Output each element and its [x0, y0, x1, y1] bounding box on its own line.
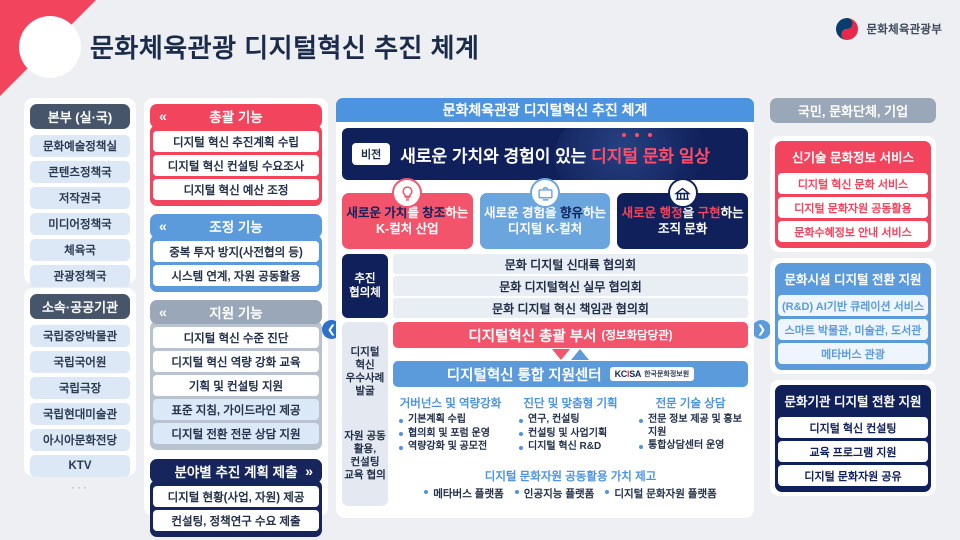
strategy-2-line2: 조직 문화	[658, 221, 707, 237]
support-card-2-item-0: 전문 정보 제공 및 홍보 지원	[639, 414, 742, 439]
support-item-4[interactable]: 디지털 전환 전문 상담 지원	[153, 423, 319, 444]
center-framework-panel: 문화체육관광 디지털혁신 추진 체계 비전 새로운 가치와 경험이 있는 디지털…	[336, 98, 754, 518]
dept-bar-sub: (정보화담당관)	[601, 327, 672, 343]
sector-plan-card: 디지털 현황(사업, 자원) 제공 컨설팅, 정책연구 수요 제출	[150, 480, 322, 537]
council-label: 추진 협의체	[342, 254, 388, 318]
slide-root: 문화체육관광 디지털혁신 추진 체계 문화체육관광부 본부 (실·국) 문화예술…	[0, 0, 960, 540]
functions-panel: « 총괄 기능 디지털 혁신 추진계획 수립 디지털 혁신 컨설팅 수요조사 디…	[144, 98, 328, 516]
support-card-2-title: 전문 기술 상담	[639, 395, 742, 411]
taegeuk-icon	[834, 16, 860, 42]
double-chevron-left-icon: «	[159, 218, 167, 234]
coordination-item-1[interactable]: 시스템 연계, 자원 공동활용	[153, 265, 319, 286]
coordination-function-header: « 조정 기능	[150, 214, 322, 238]
new-tech-service-panel: 신기술 문화정보 서비스 디지털 혁신 문화 서비스 디지털 문화자원 공동활용…	[770, 136, 936, 252]
vision-statement: 새로운 가치와 경험이 있는 디지털 문화 일상	[390, 142, 720, 167]
council-section: 추진 협의체 문화 디지털 신대륙 협의회 문화 디지털혁신 실무 협의회 문화…	[342, 254, 748, 318]
council-row-1[interactable]: 문화 디지털혁신 실무 협의회	[393, 276, 748, 296]
support-center-main: 디지털혁신 통합 지원센터	[447, 364, 602, 385]
overall-function-card: 디지털 혁신 추진계획 수립 디지털 혁신 컨설팅 수요조사 디지털 혁신 예산…	[150, 125, 322, 206]
strategy-1-line2: 디지털 K-컬처	[508, 221, 582, 237]
support-card-0-item-0: 기본계획 수립	[399, 414, 502, 427]
support-item-3[interactable]: 표준 지침, 가이드라인 제공	[153, 399, 319, 420]
double-chevron-left-icon: «	[159, 108, 167, 124]
support-function-header: « 지원 기능	[150, 300, 322, 324]
value-bar-title: 디지털 문화자원 공동활용 가치 제고	[393, 468, 748, 484]
support-card-0[interactable]: 거버넌스 및 역량강화 기본계획 수립 협의회 및 포럼 운영 역량강화 및 공…	[393, 391, 508, 460]
support-card-2[interactable]: 전문 기술 상담 전문 정보 제공 및 홍보 지원 통합상담센터 운영	[633, 391, 748, 460]
hq-item-0[interactable]: 문화예술정책실	[30, 135, 130, 157]
chevron-right-icon[interactable]: ❯	[752, 320, 771, 339]
affiliated-item-5[interactable]: KTV	[30, 455, 130, 477]
strategy-card-0[interactable]: 새로운 가치를 창조하는 K-컬처 산업	[342, 193, 473, 249]
institution-item-0[interactable]: 디지털 혁신 컨설팅	[778, 417, 928, 438]
support-card-1-item-0: 연구, 컨설팅	[519, 414, 622, 427]
headquarters-title: 본부 (실·국)	[30, 104, 130, 129]
hq-item-3[interactable]: 미디어정책국	[30, 213, 130, 235]
council-row-2[interactable]: 문화 디지털 혁신 책임관 협의회	[393, 298, 748, 318]
hq-item-4[interactable]: 체육국	[30, 239, 130, 261]
support-item-0[interactable]: 디지털 혁신 수준 진단	[153, 327, 319, 348]
affiliated-item-3[interactable]: 국립현대미술관	[30, 403, 130, 425]
council-label-line2: 협의체	[349, 287, 381, 299]
double-chevron-right-icon: »	[305, 463, 313, 479]
integrated-support-center-bar[interactable]: 디지털혁신 통합 지원센터 KCISA 한국문화정보원	[393, 361, 748, 387]
sector-plan-item-0[interactable]: 디지털 현황(사업, 자원) 제공	[153, 486, 319, 507]
coordination-function-title: 조정 기능	[209, 216, 262, 236]
coordination-function-card: 중복 투자 방지(사전협의 등) 시스템 연계, 자원 공동활용	[150, 235, 322, 292]
dept-bar-main: 디지털혁신 총괄 부서	[468, 325, 596, 346]
coordination-item-0[interactable]: 중복 투자 방지(사전협의 등)	[153, 241, 319, 262]
value-bar-item-0: 메타버스 플랫폼	[424, 486, 504, 501]
sector-plan-item-1[interactable]: 컨설팅, 정책연구 수요 제출	[153, 510, 319, 531]
new-tech-item-0[interactable]: 디지털 혁신 문화 서비스	[778, 173, 928, 194]
arrow-pair	[393, 348, 748, 361]
support-card-2-item-1: 통합상담센터 운영	[639, 440, 742, 453]
vision-banner: 비전 새로운 가치와 경험이 있는 디지털 문화 일상	[342, 128, 748, 180]
kcisa-mark: KCISA	[615, 369, 642, 379]
vision-label: 비전	[352, 143, 390, 165]
facility-card: 문화시설 디지털 전환 지원 (R&D) AI기반 큐레이션 서비스 스마트 박…	[775, 263, 931, 370]
institution-item-2[interactable]: 디지털 문화자원 공유	[778, 465, 928, 486]
facility-transition-panel: 문화시설 디지털 전환 지원 (R&D) AI기반 큐레이션 서비스 스마트 박…	[770, 258, 936, 374]
council-row-0[interactable]: 문화 디지털 신대륙 협의회	[393, 254, 748, 274]
double-chevron-left-icon: «	[159, 304, 167, 320]
center-title: 문화체육관광 디지털혁신 추진 체계	[336, 98, 754, 122]
page-title: 문화체육관광 디지털혁신 추진 체계	[90, 28, 479, 65]
support-function-card: 디지털 혁신 수준 진단 디지털 혁신 역량 강화 교육 기획 및 컨설팅 지원…	[150, 321, 322, 450]
council-label-line1: 추진	[354, 273, 375, 285]
support-card-1-item-1: 컨설팅 및 사업기획	[519, 428, 622, 441]
facility-item-1[interactable]: 스마트 박물관, 미술관, 도서관	[778, 319, 928, 340]
side-label-bottom: 자원 공동 활용, 컨설팅 교육 협의	[344, 430, 386, 482]
overall-item-2[interactable]: 디지털 혁신 예산 조정	[153, 179, 319, 200]
facility-title: 문화시설 디지털 전환 지원	[778, 266, 928, 292]
lightbulb-icon	[392, 178, 422, 208]
kcisa-logo: KCISA 한국문화정보원	[610, 367, 695, 381]
side-labels: 디지털 혁신 우수사례 발굴 자원 공동 활용, 컨설팅 교육 협의	[342, 322, 388, 506]
network-display-icon	[530, 178, 560, 208]
value-bar-item-2: 디지털 문화자원 플랫폼	[605, 486, 716, 501]
hq-item-1[interactable]: 콘텐츠정책국	[30, 161, 130, 183]
support-card-0-item-2: 역량강화 및 공모전	[399, 441, 502, 454]
support-card-1[interactable]: 진단 및 맞춤형 기획 연구, 컨설팅 컨설팅 및 사업기획 디지털 혁신 R&…	[513, 391, 628, 460]
overall-item-1[interactable]: 디지털 혁신 컨설팅 수요조사	[153, 155, 319, 176]
institution-card: 문화기관 디지털 전환 지원 디지털 혁신 컨설팅 교육 프로그램 지원 디지털…	[775, 385, 931, 492]
headquarters-panel: 본부 (실·국) 문화예술정책실 콘텐츠정책국 저작권국 미디어정책국 체육국 …	[24, 98, 136, 284]
support-center-section: 디지털 혁신 우수사례 발굴 자원 공동 활용, 컨설팅 교육 협의 디지털혁신…	[342, 322, 748, 506]
sector-plan-header: 분야별 추진 계획 제출 »	[150, 459, 322, 483]
value-enhancement-bar: 디지털 문화자원 공동활용 가치 제고 메타버스 플랫폼 인공지능 플랫폼 디지…	[393, 464, 748, 506]
strategy-0-line2: K-컬처 산업	[376, 221, 439, 237]
hq-item-2[interactable]: 저작권국	[30, 187, 130, 209]
affiliated-item-1[interactable]: 국립국어원	[30, 351, 130, 373]
public-title: 국민, 문화단체, 기업	[770, 98, 936, 123]
vision-dots-decoration	[622, 133, 652, 137]
support-function-title: 지원 기능	[209, 302, 262, 322]
support-card-1-title: 진단 및 맞춤형 기획	[519, 395, 622, 411]
side-label-top: 디지털 혁신 우수사례 발굴	[346, 346, 385, 398]
strategy-card-2[interactable]: 새로운 행정을 구현하는 조직 문화	[617, 193, 748, 249]
council-rows: 문화 디지털 신대륙 협의회 문화 디지털혁신 실무 협의회 문화 디지털 혁신…	[393, 254, 748, 318]
affiliated-item-2[interactable]: 국립극장	[30, 377, 130, 399]
affiliated-institutions-panel: 소속·공공기관 국립중앙박물관 국립국어원 국립극장 국립현대미술관 아시아문화…	[24, 288, 136, 476]
new-tech-title: 신기술 문화정보 서비스	[778, 144, 928, 170]
strategy-row: 새로운 가치를 창조하는 K-컬처 산업 새로운 경험을 향유하는 디지털 K-…	[342, 193, 748, 249]
support-card-0-item-1: 협의회 및 포럼 운영	[399, 428, 502, 441]
support-item-2[interactable]: 기획 및 컨설팅 지원	[153, 375, 319, 396]
strategy-card-1[interactable]: 새로운 경험을 향유하는 디지털 K-컬처	[480, 193, 611, 249]
support-functions-row: 거버넌스 및 역량강화 기본계획 수립 협의회 및 포럼 운영 역량강화 및 공…	[393, 391, 748, 460]
digital-innovation-dept-bar[interactable]: 디지털혁신 총괄 부서 (정보화담당관)	[393, 322, 748, 348]
arrow-up-icon	[571, 349, 589, 360]
new-tech-item-2[interactable]: 문화수혜정보 안내 서비스	[778, 221, 928, 242]
support-card-1-item-2: 디지털 혁신 R&D	[519, 441, 622, 454]
public-header-wrap: 국민, 문화단체, 기업	[770, 98, 936, 130]
vision-highlight: 디지털 문화 일상	[591, 147, 710, 166]
institution-item-1[interactable]: 교육 프로그램 지원	[778, 441, 928, 462]
overall-item-0[interactable]: 디지털 혁신 추진계획 수립	[153, 131, 319, 152]
kcisa-name: 한국문화정보원	[644, 369, 689, 379]
institution-transition-panel: 문화기관 디지털 전환 지원 디지털 혁신 컨설팅 교육 프로그램 지원 디지털…	[770, 380, 936, 496]
arrow-down-icon	[552, 349, 570, 360]
ministry-name: 문화체육관광부	[867, 21, 942, 37]
hq-item-5[interactable]: 관광정책국	[30, 265, 130, 287]
affiliated-item-4[interactable]: 아시아문화전당	[30, 429, 130, 451]
overall-function-title: 총괄 기능	[209, 106, 262, 126]
value-bar-item-1: 인공지능 플랫폼	[515, 486, 595, 501]
affiliated-title: 소속·공공기관	[30, 294, 130, 319]
facility-item-0[interactable]: (R&D) AI기반 큐레이션 서비스	[778, 295, 928, 316]
corner-circle-decoration	[19, 16, 81, 78]
government-building-icon	[668, 178, 698, 208]
facility-item-2[interactable]: 메타버스 관광	[778, 343, 928, 364]
institution-title: 문화기관 디지털 전환 지원	[778, 388, 928, 414]
sector-plan-title: 분야별 추진 계획 제출	[174, 461, 297, 481]
support-item-1[interactable]: 디지털 혁신 역량 강화 교육	[153, 351, 319, 372]
vision-plain: 새로운 가치와 경험이 있는	[400, 147, 591, 166]
support-center-body: 디지털혁신 총괄 부서 (정보화담당관) 디지털혁신 통합 지원센터 KCISA…	[393, 322, 748, 506]
overall-function-header: « 총괄 기능	[150, 104, 322, 128]
new-tech-card: 신기술 문화정보 서비스 디지털 혁신 문화 서비스 디지털 문화자원 공동활용…	[775, 141, 931, 248]
affiliated-more-ellipsis: ···	[30, 480, 130, 494]
new-tech-item-1[interactable]: 디지털 문화자원 공동활용	[778, 197, 928, 218]
affiliated-item-0[interactable]: 국립중앙박물관	[30, 325, 130, 347]
support-card-0-title: 거버넌스 및 역량강화	[399, 395, 502, 411]
government-logo: 문화체육관광부	[834, 16, 942, 42]
